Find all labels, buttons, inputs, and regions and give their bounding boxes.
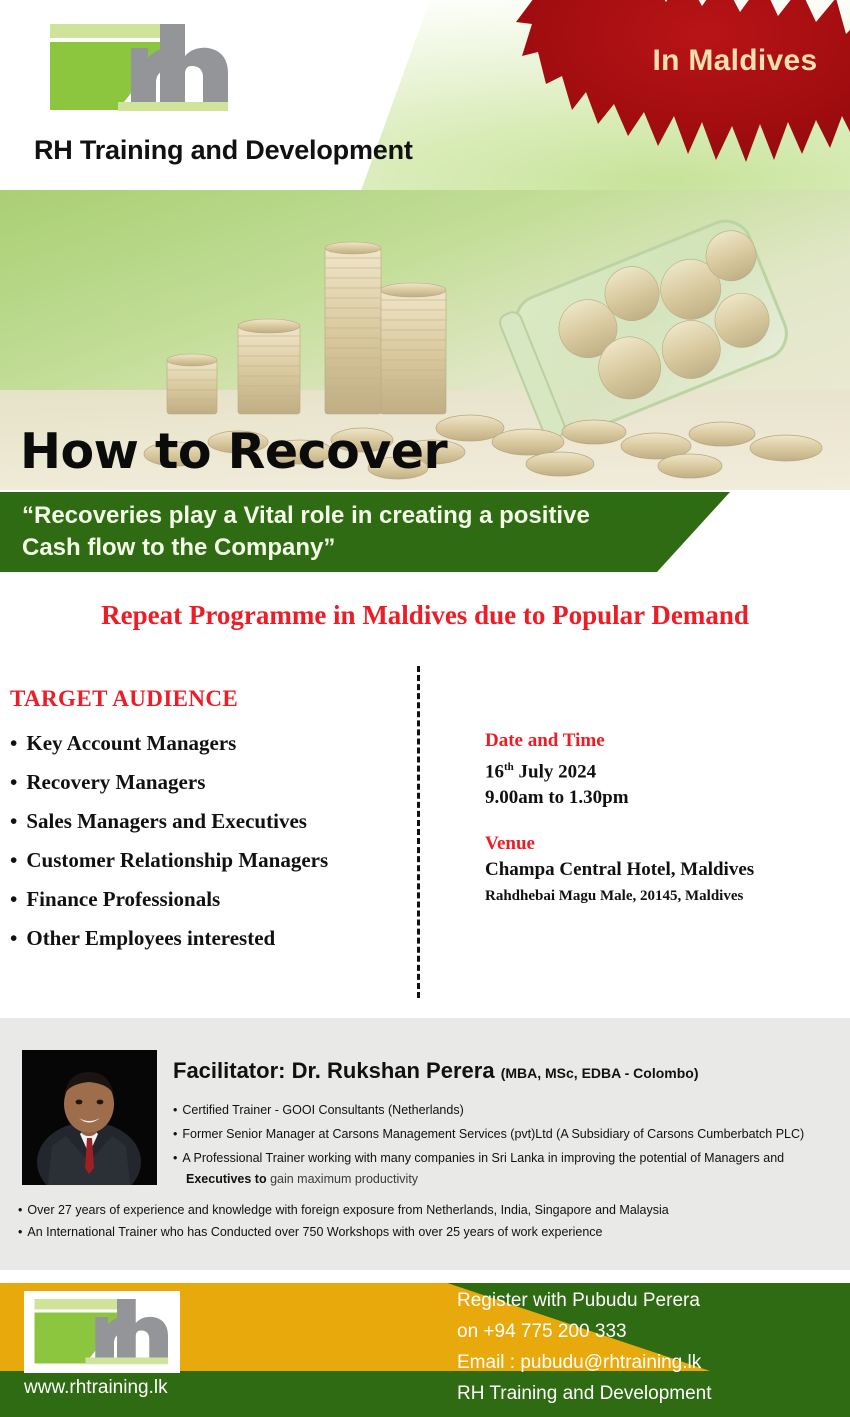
facilitator-bullets: Certified Trainer - GOOI Consultants (Ne… <box>173 1100 838 1193</box>
facilitator-title: Facilitator: Dr. Rukshan Perera (MBA, MS… <box>173 1058 699 1084</box>
footer-register-line: Register with Pubudu Perera <box>457 1285 837 1316</box>
bullet-bold-tail: Executives to <box>186 1172 270 1186</box>
footer-rh-logo <box>24 1291 180 1373</box>
facilitator-name: Facilitator: Dr. Rukshan Perera <box>173 1058 495 1083</box>
quote-line-2: Cash flow to the Company” <box>22 532 712 564</box>
venue-name: Champa Central Hotel, Maldives <box>485 857 845 883</box>
list-item: Recovery Managers <box>10 763 405 802</box>
repeat-notice: Repeat Programme in Maldives due to Popu… <box>0 600 850 631</box>
facilitator-bullet-list: Certified Trainer - GOOI Consultants (Ne… <box>173 1100 838 1190</box>
venue-address: Rahdhebai Magu Male, 20145, Maldives <box>485 885 845 907</box>
target-audience-heading: TARGET AUDIENCE <box>10 686 405 712</box>
hero-banner: How to Recover your Debts Effectively <box>0 190 850 490</box>
facilitator-portrait <box>22 1050 157 1185</box>
venue-heading: Venue <box>485 833 845 855</box>
hero-title-line-2: your Debts <box>20 482 540 490</box>
details-spacer <box>485 811 845 833</box>
bullet-main-text: A Professional Trainer working with many… <box>182 1151 784 1165</box>
list-item: Other Employees interested <box>10 919 405 958</box>
list-item: Key Account Managers <box>10 724 405 763</box>
quote-line-1: “Recoveries play a Vital role in creatin… <box>22 500 712 532</box>
starburst-shape <box>516 0 850 179</box>
list-item: Finance Professionals <box>10 880 405 919</box>
footer-website[interactable]: www.rhtraining.lk <box>24 1377 168 1399</box>
date-time-heading: Date and Time <box>485 730 845 752</box>
facilitator-qualifications: (MBA, MSc, EDBA - Colombo) <box>501 1065 699 1081</box>
list-item: Former Senior Manager at Carsons Managem… <box>173 1124 838 1145</box>
target-audience-list: Key Account Managers Recovery Managers S… <box>10 724 405 958</box>
event-date: 16th July 2024 <box>485 754 845 785</box>
footer-email-line[interactable]: Email : pubudu@rhtraining.lk <box>457 1347 837 1378</box>
poster-header: RH Training and Development In Maldives <box>0 0 850 190</box>
bullet-continuation: Executives to gain maximum productivity <box>186 1169 838 1190</box>
event-date-day: 16 <box>485 761 504 782</box>
list-item: Customer Relationship Managers <box>10 841 405 880</box>
bullet-light-tail: gain maximum productivity <box>270 1172 418 1186</box>
list-item: An International Trainer who has Conduct… <box>18 1221 828 1243</box>
list-item: Certified Trainer - GOOI Consultants (Ne… <box>173 1100 838 1121</box>
rh-logo <box>40 18 240 118</box>
burst-label: In Maldives <box>620 44 850 78</box>
footer-phone-line[interactable]: on +94 775 200 333 <box>457 1316 837 1347</box>
hero-title-line-1: How to Recover <box>20 422 540 482</box>
list-item: A Professional Trainer working with many… <box>173 1148 838 1190</box>
hero-title: How to Recover your Debts Effectively <box>20 422 540 490</box>
vertical-dashed-divider <box>417 666 420 998</box>
footer-org-line: RH Training and Development <box>457 1378 837 1409</box>
company-name: RH Training and Development <box>34 135 413 166</box>
target-audience-section: TARGET AUDIENCE Key Account Managers Rec… <box>10 686 405 958</box>
event-date-rest: July 2024 <box>514 761 596 782</box>
event-time: 9.00am to 1.30pm <box>485 785 845 811</box>
facilitator-extra-bullets: Over 27 years of experience and knowledg… <box>18 1199 828 1243</box>
list-item: Over 27 years of experience and knowledg… <box>18 1199 828 1221</box>
event-details-section: Date and Time 16th July 2024 9.00am to 1… <box>485 730 845 907</box>
footer-contact-block: Register with Pubudu Perera on +94 775 2… <box>457 1285 837 1409</box>
event-date-ordinal: th <box>504 761 514 773</box>
quote-text: “Recoveries play a Vital role in creatin… <box>22 500 712 564</box>
poster-root: RH Training and Development In Maldives <box>0 0 850 1417</box>
facilitator-extra-list: Over 27 years of experience and knowledg… <box>18 1199 828 1243</box>
list-item: Sales Managers and Executives <box>10 802 405 841</box>
